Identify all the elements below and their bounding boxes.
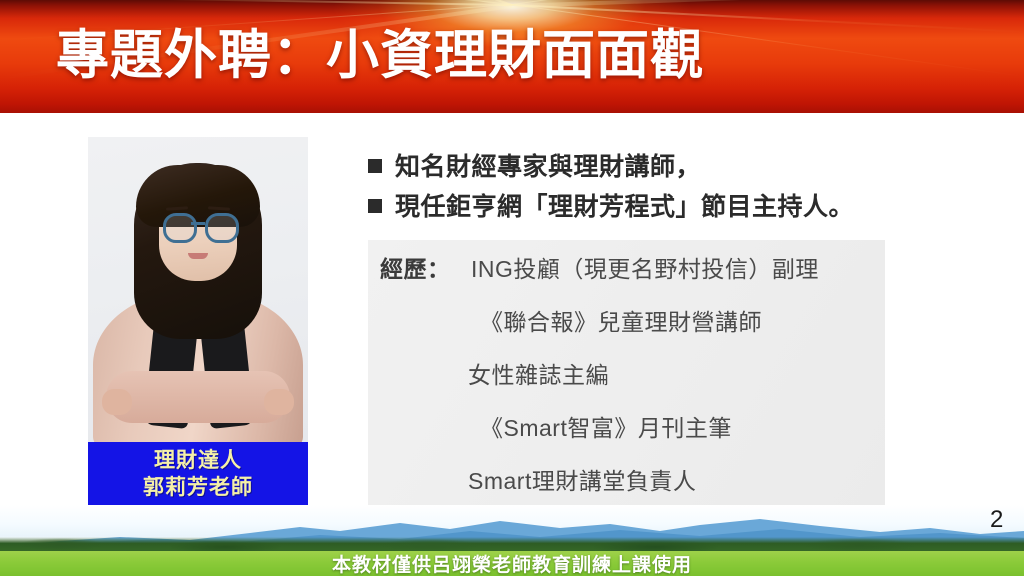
resume-panel: 經歷： ING投顧（現更名野村投信）副理 《聯合報》兒童理財營講師 女性雜誌主編… (368, 240, 885, 505)
bullet-item: 現任鉅亨網「理財芳程式」節目主持人。 (368, 190, 948, 224)
bullet-text: 知名財經專家與理財講師， (395, 150, 701, 184)
photo-hair-front (136, 165, 260, 227)
footer-note: 本教材僅供呂翊榮老師教育訓練上課使用 (0, 550, 1024, 576)
speaker-nameplate: 理財達人 郭莉芳老師 (88, 442, 308, 505)
photo-mouth (188, 253, 208, 259)
resume-item: 《聯合報》兒童理財營講師 (480, 303, 762, 337)
bullet-item: 知名財經專家與理財講師， (368, 150, 948, 184)
resume-item: Smart理財講堂負責人 (468, 462, 696, 496)
photo-eyeglass-left (163, 213, 197, 243)
resume-row: 女性雜誌主編 (368, 346, 885, 399)
photo-hand-right (264, 389, 294, 415)
slide-canvas: 專題外聘：小資理財面面觀 理財達人 郭莉芳老師 知名財經專家與理財講師， (0, 0, 1024, 576)
title-banner: 專題外聘：小資理財面面觀 (0, 0, 1024, 113)
square-bullet-icon (368, 199, 382, 213)
resume-item: ING投顧（現更名野村投信）副理 (471, 250, 819, 284)
photo-crossed-arms (106, 371, 290, 423)
speaker-photo (88, 137, 308, 445)
resume-row: 《Smart智富》月刊主筆 (368, 399, 885, 452)
resume-item: 女性雜誌主編 (468, 356, 609, 390)
page-title: 專題外聘：小資理財面面觀 (56, 26, 956, 86)
square-bullet-icon (368, 159, 382, 173)
resume-row: ING投顧（現更名野村投信）副理 (368, 240, 885, 293)
nameplate-name: 郭莉芳老師 (143, 474, 253, 501)
resume-row: 《聯合報》兒童理財營講師 (368, 293, 885, 346)
photo-eyeglass-right (205, 213, 239, 243)
page-number: 2 (990, 506, 1003, 534)
resume-item: 《Smart智富》月刊主筆 (480, 409, 732, 443)
resume-row: Smart理財講堂負責人 (368, 452, 885, 505)
photo-eyeglass-bridge (191, 222, 205, 225)
photo-hand-left (102, 389, 132, 415)
bullet-text: 現任鉅亨網「理財芳程式」節目主持人。 (395, 190, 854, 224)
bullet-list: 知名財經專家與理財講師， 現任鉅亨網「理財芳程式」節目主持人。 (368, 150, 948, 230)
nameplate-title: 理財達人 (154, 447, 242, 474)
